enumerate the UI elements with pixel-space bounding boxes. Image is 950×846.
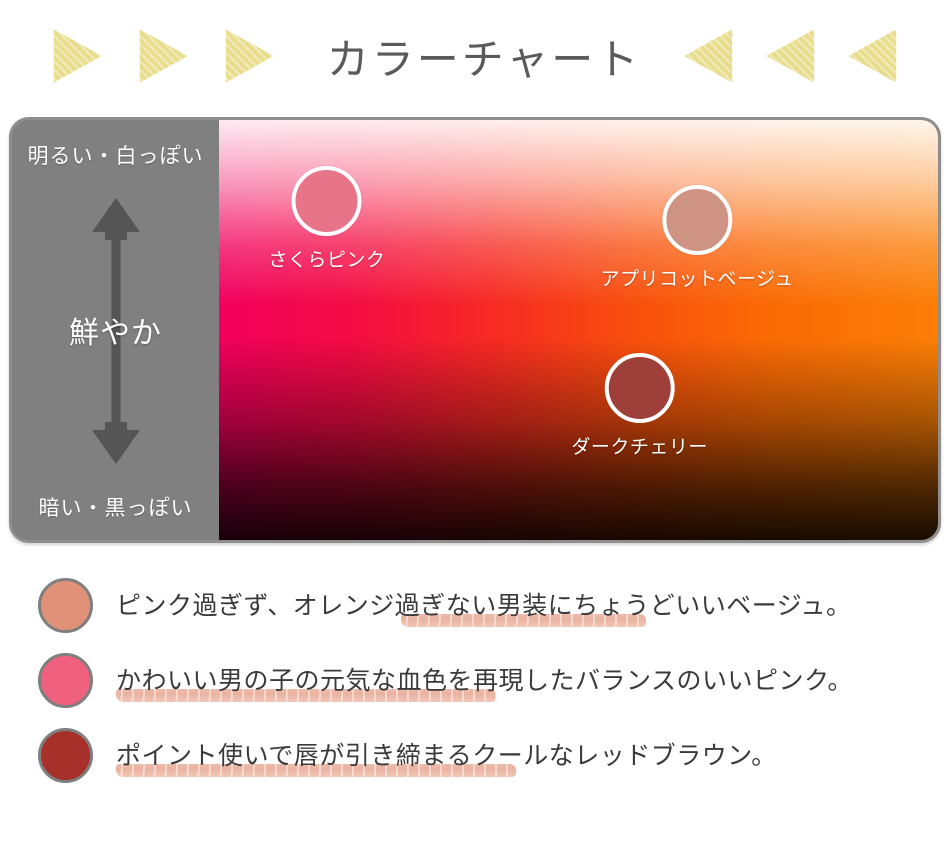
play-triangle-left-1-icon [683, 27, 735, 85]
chart-point-label: ダークチェリー [571, 432, 708, 459]
play-triangle-right-1-icon [51, 27, 103, 85]
axis-bottom-label: 暗い・黒っぽい [39, 492, 193, 522]
chart-plot-area: さくらピンクアプリコットベージュダークチェリー [219, 120, 938, 540]
double-headed-vertical-arrow-icon [12, 176, 219, 486]
chart-point-dot [662, 185, 732, 255]
dark-cherry-swatch [38, 728, 93, 783]
page-header: カラーチャート [0, 0, 950, 112]
color-chart-panel: 明るい・白っぽい 鮮やか 暗い・黒っぽい さくらピンクアプリコットベージュダーク… [9, 117, 941, 543]
legend-row[interactable]: ポイント使いで唇が引き締まるクールなレッドブラウン。 [0, 718, 950, 793]
legend-description: ポイント使いで唇が引き締まるクールなレッドブラウン。 [116, 736, 777, 772]
chart-point-dot [292, 166, 362, 236]
chart-point[interactable]: アプリコットベージュ [600, 185, 793, 291]
header-right-triangles [683, 27, 899, 85]
vividness-axis: 明るい・白っぽい 鮮やか 暗い・黒っぽい [12, 120, 219, 540]
legend-row[interactable]: かわいい男の子の元気な血色を再現したバランスのいいピンク。 [0, 643, 950, 718]
axis-top-label: 明るい・白っぽい [28, 140, 204, 170]
legend-description: ピンク過ぎず、オレンジ過ぎない男装にちょうどいいベージュ。 [116, 586, 852, 622]
apricot-beige-swatch [38, 578, 93, 633]
legend-text-wrap: ピンク過ぎず、オレンジ過ぎない男装にちょうどいいベージュ。 [116, 586, 852, 626]
chart-point[interactable]: ダークチェリー [571, 353, 708, 459]
chart-point[interactable]: さくらピンク [268, 166, 385, 272]
legend-text-wrap: かわいい男の子の元気な血色を再現したバランスのいいピンク。 [116, 661, 853, 701]
color-legend: ピンク過ぎず、オレンジ過ぎない男装にちょうどいいベージュ。かわいい男の子の元気な… [0, 568, 950, 793]
legend-row[interactable]: ピンク過ぎず、オレンジ過ぎない男装にちょうどいいベージュ。 [0, 568, 950, 643]
chart-point-label: さくらピンク [268, 245, 385, 272]
header-left-triangles [51, 27, 275, 85]
legend-description: かわいい男の子の元気な血色を再現したバランスのいいピンク。 [116, 661, 853, 697]
page-title: カラーチャート [327, 26, 642, 87]
sakura-pink-swatch [38, 653, 93, 708]
play-triangle-left-2-icon [765, 27, 817, 85]
play-triangle-right-2-icon [137, 27, 189, 85]
play-triangle-left-3-icon [847, 27, 899, 85]
chart-point-label: アプリコットベージュ [600, 264, 793, 291]
legend-text-wrap: ポイント使いで唇が引き締まるクールなレッドブラウン。 [116, 736, 777, 776]
play-triangle-right-3-icon [223, 27, 275, 85]
chart-point-dot [605, 353, 675, 423]
